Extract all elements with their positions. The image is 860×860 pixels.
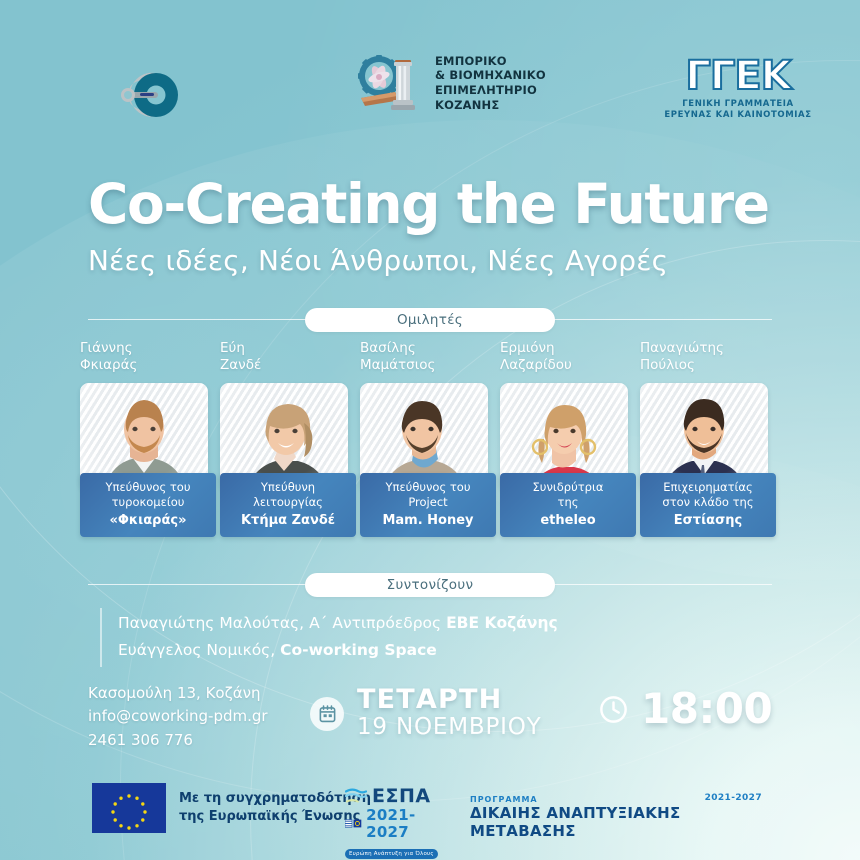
speaker-role-line-2: στον κλάδο της — [644, 495, 772, 510]
espa-years: 2021-2027 — [366, 807, 445, 840]
espa-logo: ΕΣΠΑ 2021-2027 Ευρώπη Ανάπτυξη για Όλους — [345, 786, 445, 859]
speaker-caption: Επιχειρηματίας στον κλάδο της Εστίασης — [640, 473, 776, 537]
espa-flags-icon — [345, 818, 362, 829]
speaker-role-line-1: Επιχειρηματίας — [644, 480, 772, 495]
speaker-card[interactable]: Ερμιόνη Λαζαρίδου — [500, 340, 628, 537]
speaker-organization: «Φκιαράς» — [84, 513, 212, 528]
speaker-last-name: Φκιαράς — [80, 357, 208, 374]
speaker-first-name: Γιάννης — [80, 340, 208, 357]
speaker-card[interactable]: Γιάννης Φκιαράς — [80, 340, 208, 537]
speaker-last-name: Πούλιος — [640, 357, 768, 374]
co-working-logo — [88, 56, 198, 134]
poster-title: Co-Creating the Future — [88, 176, 788, 232]
speakers-pill-label: Ομιλητές — [305, 308, 555, 332]
moderators-list: Παναγιώτης Μαλούτας, Α΄ Αντιπρόεδρος ΕΒΕ… — [100, 608, 778, 667]
moderator-row: Παναγιώτης Μαλούτας, Α΄ Αντιπρόεδρος ΕΒΕ… — [118, 612, 778, 635]
speaker-role-line-1: Υπεύθυνη — [224, 480, 352, 495]
contact-phone[interactable]: 2461 306 776 — [88, 729, 268, 752]
european-union-flag — [92, 783, 166, 833]
speaker-role-line-2: της — [504, 495, 632, 510]
speaker-last-name: Λαζαρίδου — [500, 357, 628, 374]
speaker-organization: etheleo — [504, 513, 632, 528]
speaker-card[interactable]: Βασίλης Μαμάτσιος — [360, 340, 488, 537]
speaker-first-name: Ερμιόνη — [500, 340, 628, 357]
espa-wave-icon — [345, 786, 367, 806]
chamber-line-3: ΕΠΙΜΕΛΗΤΗΡΙΟ — [435, 83, 546, 98]
eu-funding-line-2: της Ευρωπαϊκής Ένωσης — [179, 808, 371, 826]
ggek-subtitle-line-2: ΕΡΕΥΝΑΣ ΚΑΙ ΚΑΙΝΟΤΟΜΙΑΣ — [648, 110, 828, 121]
chamber-name: ΕΜΠΟΡΙΚΟ & ΒΙΟΜΗΧΑΝΙΚΟ ΕΠΙΜΕΛΗΤΗΡΙΟ ΚΟΖΑ… — [435, 54, 546, 113]
speaker-role-line-1: Συνιδρύτρια — [504, 480, 632, 495]
ggek-acronym: ΓΓΕΚ — [648, 56, 828, 96]
speaker-name: Ερμιόνη Λαζαρίδου — [500, 340, 628, 376]
speaker-last-name: Ζανδέ — [220, 357, 348, 374]
speaker-role-line-1: Υπεύθυνος του — [84, 480, 212, 495]
program-logo: ΠΡΟΓΡΑΜΜΑ 2021-2027 ΔΙΚΑΙΗΣ ΑΝΑΠΤΥΞΙΑΚΗΣ… — [470, 795, 770, 840]
speaker-role-line-1: Υπεύθυνος του — [364, 480, 492, 495]
ggek-subtitle: ΓΕΝΙΚΗ ΓΡΑΜΜΑΤΕΙΑ ΕΡΕΥΝΑΣ ΚΑΙ ΚΑΙΝΟΤΟΜΙΑ… — [648, 99, 828, 122]
venue-address: Κασομούλη 13, Κοζάνη — [88, 682, 268, 705]
speaker-first-name: Βασίλης — [360, 340, 488, 357]
clock-icon — [598, 694, 629, 725]
chamber-of-commerce-logo: ΕΜΠΟΡΙΚΟ & ΒΙΟΜΗΧΑΝΙΚΟ ΕΠΙΜΕΛΗΤΗΡΙΟ ΚΟΖΑ… — [355, 52, 546, 114]
moderator-name: Ευάγγελος Νομικός, — [118, 641, 275, 659]
moderator-organization: ΕΒΕ Κοζάνης — [446, 614, 558, 632]
speaker-organization: Κτήμα Ζανδέ — [224, 513, 352, 528]
espa-tagline: Ευρώπη Ανάπτυξη για Όλους — [345, 849, 438, 859]
speaker-last-name: Μαμάτσιος — [360, 357, 488, 374]
program-name: ΔΙΚΑΙΗΣ ΑΝΑΠΤΥΞΙΑΚΗΣ ΜΕΤΑΒΑΣΗΣ — [470, 804, 770, 840]
moderators-pill-label: Συντονίζουν — [305, 573, 555, 597]
poster-subtitle: Νέες ιδέες, Νέοι Άνθρωποι, Νέες Αγορές — [88, 244, 788, 277]
contact-info: Κασομούλη 13, Κοζάνη info@coworking-pdm.… — [88, 682, 268, 752]
speaker-name: Εύη Ζανδέ — [220, 340, 348, 376]
espa-wordmark: ΕΣΠΑ — [372, 787, 431, 806]
event-date-block: ΤΕΤΑΡΤΗ 19 ΝΟΕΜΒΡΙΟΥ — [310, 686, 541, 742]
calendar-icon — [310, 697, 344, 731]
hero-block: Co-Creating the Future Νέες ιδέες, Νέοι … — [88, 176, 788, 277]
chamber-line-1: ΕΜΠΟΡΙΚΟ — [435, 54, 546, 69]
speaker-name: Παναγιώτης Πούλιος — [640, 340, 768, 376]
speaker-caption: Υπεύθυνη λειτουργίας Κτήμα Ζανδέ — [220, 473, 356, 537]
speaker-caption: Συνιδρύτρια της etheleo — [500, 473, 636, 537]
speakers-section-header: Ομιλητές — [88, 308, 772, 332]
chamber-line-2: & ΒΙΟΜΗΧΑΝΙΚΟ — [435, 68, 546, 83]
event-date: 19 ΝΟΕΜΒΡΙΟΥ — [357, 714, 541, 742]
ggek-subtitle-line-1: ΓΕΝΙΚΗ ΓΡΑΜΜΑΤΕΙΑ — [648, 99, 828, 110]
speaker-role-line-2: Project — [364, 495, 492, 510]
speaker-caption: Υπεύθυνος του τυροκομείου «Φκιαράς» — [80, 473, 216, 537]
event-time: 18:00 — [641, 688, 772, 730]
speaker-role-line-2: τυροκομείου — [84, 495, 212, 510]
moderator-organization: Co-working Space — [280, 641, 437, 659]
moderators-section-header: Συντονίζουν — [88, 573, 772, 597]
moderator-row: Ευάγγελος Νομικός, Co-working Space — [118, 639, 778, 662]
program-years: 2021-2027 — [705, 793, 762, 803]
speaker-role-line-2: λειτουργίας — [224, 495, 352, 510]
event-poster: ΕΜΠΟΡΙΚΟ & ΒΙΟΜΗΧΑΝΙΚΟ ΕΠΙΜΕΛΗΤΗΡΙΟ ΚΟΖΑ… — [0, 0, 860, 860]
contact-email[interactable]: info@coworking-pdm.gr — [88, 705, 268, 728]
speaker-card[interactable]: Παναγιώτης Πούλιος — [640, 340, 768, 537]
speaker-name: Γιάννης Φκιαράς — [80, 340, 208, 376]
logo-header: ΕΜΠΟΡΙΚΟ & ΒΙΟΜΗΧΑΝΙΚΟ ΕΠΙΜΕΛΗΤΗΡΙΟ ΚΟΖΑ… — [0, 44, 860, 154]
speaker-organization: Εστίασης — [644, 513, 772, 528]
speaker-organization: Mam. Honey — [364, 513, 492, 528]
chamber-emblem-icon — [355, 52, 425, 114]
speaker-name: Βασίλης Μαμάτσιος — [360, 340, 488, 376]
speaker-first-name: Εύη — [220, 340, 348, 357]
speaker-caption: Υπεύθυνος του Project Mam. Honey — [360, 473, 496, 537]
eu-funding-line-1: Με τη συγχρηματοδότηση — [179, 790, 371, 808]
speakers-list: Γιάννης Φκιαράς — [80, 340, 780, 537]
eu-funding-text: Με τη συγχρηματοδότηση της Ευρωπαϊκής Έν… — [179, 790, 371, 825]
speaker-card[interactable]: Εύη Ζανδέ — [220, 340, 348, 537]
background-arc — [250, 240, 860, 860]
event-day: ΤΕΤΑΡΤΗ — [357, 686, 541, 714]
speaker-first-name: Παναγιώτης — [640, 340, 768, 357]
event-time-block: 18:00 — [598, 688, 772, 730]
eu-funding-logo: Με τη συγχρηματοδότηση της Ευρωπαϊκής Έν… — [92, 783, 371, 833]
moderator-title: Α΄ Αντιπρόεδρος — [309, 614, 441, 632]
chamber-line-4: ΚΟΖΑΝΗΣ — [435, 98, 546, 113]
moderator-name: Παναγιώτης Μαλούτας, — [118, 614, 304, 632]
ggek-logo: ΓΓΕΚ ΓΕΝΙΚΗ ΓΡΑΜΜΑΤΕΙΑ ΕΡΕΥΝΑΣ ΚΑΙ ΚΑΙΝΟ… — [648, 56, 828, 122]
